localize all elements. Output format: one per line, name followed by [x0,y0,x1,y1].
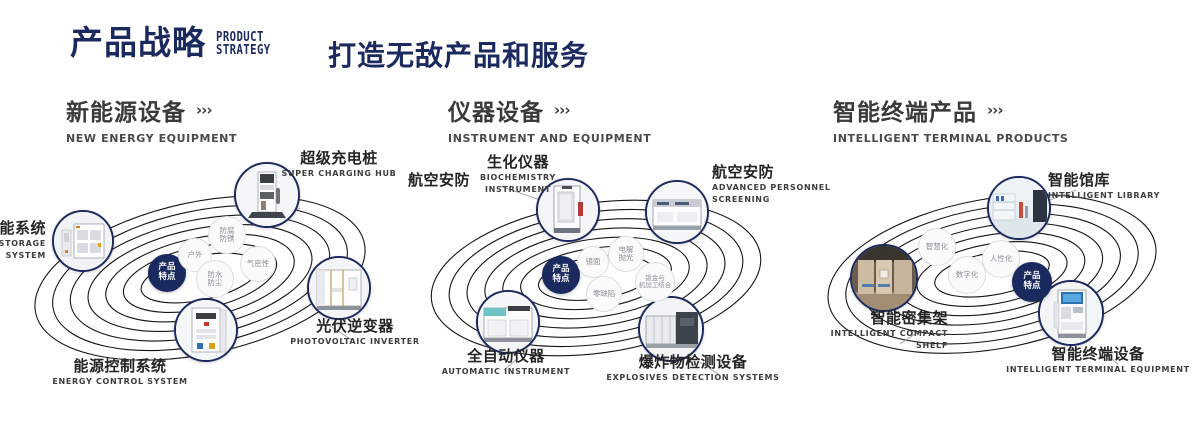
node-label-en-1: INTELLIGENT LIBRARY [1048,191,1198,201]
feature-bubble-anticorrosion[interactable]: 防腐 防锈 [208,216,246,254]
node-label-en-1: INTELLIGENT TERMINAL EQUIPMENT [998,365,1198,375]
feature-bubble-text: 气密性 [247,260,270,268]
feature-bubble-digital[interactable]: 数字化 [948,256,986,294]
feature-bubble-text: 户外 [188,251,203,259]
feature-bubble-text: 镜面 [586,258,601,266]
label-intelligent-library: 智能馆库 INTELLIGENT LIBRARY [1048,172,1198,201]
label-energy-storage-system: 储能系统 ENERGY STORAGE SYSTEM [0,220,46,261]
page-title-en-line2: STRATEGY [216,44,271,57]
feature-bubble-text: 数字化 [956,271,979,279]
node-label-cn: 智能密集架 [758,310,948,327]
section-title-new-energy: 新能源设备 ››› NEW ENERGY EQUIPMENT [66,93,237,145]
center-bubble-line2: 特点 [158,273,175,283]
node-label-en-2: SYSTEM [0,251,46,261]
section-title-cn-wrap: 新能源设备 ››› [66,93,237,127]
section-title-instrument: 仪器设备 ››› INSTRUMENT AND EQUIPMENT [448,93,651,145]
feature-bubble-waterproof[interactable]: 防水 防尘 [196,260,234,298]
node-label-en-1: INTELLIGENT COMPACT [758,329,948,339]
node-energy-control-system[interactable] [174,298,238,362]
feature-bubble-line2: 抛光 [619,254,634,262]
compact-shelf-icon [852,246,916,310]
node-label-cn: 储能系统 [0,220,46,237]
feature-bubble-line2: 防锈 [220,235,235,243]
center-bubble-product-features[interactable]: 产品 特点 [542,256,580,294]
feature-bubble-electropolishing[interactable]: 电解 抛光 [608,236,644,272]
node-photovoltaic-inverter[interactable] [307,256,371,320]
feature-bubble-mirror[interactable]: 镜面 [577,246,609,278]
label-intelligent-compact-shelf: 智能密集架 INTELLIGENT COMPACT SHELF [758,310,948,351]
feature-bubble-text: 人性化 [990,255,1013,263]
page-title-english: PRODUCT STRATEGY [216,31,271,57]
label-energy-control-system: 能源控制系统 ENERGY CONTROL SYSTEM [30,358,210,387]
section-title-en: NEW ENERGY EQUIPMENT [66,132,237,145]
label-super-charging-hub: 超级充电桩 SUPER CHARGING HUB [264,150,414,179]
label-explosives-detection-systems: 爆炸物检测设备 EXPLOSIVES DETECTION SYSTEMS [598,354,788,383]
node-label-en-2: SHELF [758,341,948,351]
section-title-cn-wrap: 仪器设备 ››› [448,93,651,127]
control-cabinet-icon [176,300,236,360]
explosives-detector-icon [640,298,702,360]
label-intelligent-terminal-equipment: 智能终端设备 INTELLIGENT TERMINAL EQUIPMENT [998,346,1198,375]
section-title-cn: 新能源设备 [66,93,186,127]
section-title-cn: 智能终端产品 [833,93,977,127]
automatic-instrument-icon [478,292,538,352]
inverter-cabinet-icon [309,258,369,318]
feature-bubble-zero-defect[interactable]: 零缺陷 [586,276,622,312]
node-label-cn: 智能终端设备 [998,346,1198,363]
diagram-instrument: 生化仪器 BIOCHEMISTRY INSTRUMENT 航空安防 航空安防 A… [400,150,800,410]
diagram-intelligent-terminal: 智能馆库 INTELLIGENT LIBRARY 智能密集架 INTELLIGE… [800,150,1200,410]
library-room-icon [989,178,1049,238]
center-bubble-product-features[interactable]: 产品 特点 [1012,262,1052,302]
battery-cabinet-icon [54,212,112,270]
diagram-new-energy: 储能系统 ENERGY STORAGE SYSTEM 超级充电桩 SUPER C… [0,150,400,410]
section-title-cn: 仪器设备 [448,93,544,127]
node-advanced-personnel-screening[interactable] [645,180,709,244]
node-energy-storage-system[interactable] [52,210,114,272]
page-header: 产品战略 PRODUCT STRATEGY [70,26,283,59]
screening-machine-icon [647,182,707,242]
node-automatic-instrument[interactable] [476,290,540,354]
product-strategy-poster: 产品战略 PRODUCT STRATEGY 打造无敌产品和服务 新能源设备 ››… [0,0,1200,422]
chevrons-right-icon: ››› [196,103,212,118]
feature-bubble-sheetmetal-machining[interactable]: 钣金与 机加工结合 [635,262,675,302]
node-intelligent-compact-shelf[interactable] [850,244,918,312]
center-bubble-line2: 特点 [552,275,569,285]
node-label-cn: 爆炸物检测设备 [598,354,788,371]
node-label-cn: 超级充电桩 [264,150,414,167]
center-bubble-line2: 特点 [1023,282,1040,292]
node-label-cn: 智能馆库 [1048,172,1198,189]
node-label-cn: 航空安防 [408,172,518,189]
page-title: 产品战略 [70,26,206,59]
section-title-cn-wrap: 智能终端产品 ››› [833,93,1068,127]
feature-bubble-intelligent[interactable]: 智慧化 [918,228,956,266]
node-label-en-1: AUTOMATIC INSTRUMENT [428,367,584,377]
node-label-cn: 能源控制系统 [30,358,210,375]
feature-bubble-line2: 机加工结合 [639,282,672,289]
section-title-intelligent-terminal: 智能终端产品 ››› INTELLIGENT TERMINAL PRODUCTS [833,93,1068,145]
label-aviation-security-left: 航空安防 [408,172,518,189]
label-automatic-instrument: 全自动仪器 AUTOMATIC INSTRUMENT [428,348,584,377]
node-label-en-1: EXPLOSIVES DETECTION SYSTEMS [598,373,788,383]
feature-bubble-text: 智慧化 [926,243,949,251]
node-label-en-1: SUPER CHARGING HUB [264,169,414,179]
node-intelligent-library[interactable] [987,176,1051,240]
section-title-en: INSTRUMENT AND EQUIPMENT [448,132,651,145]
node-label-en-1: ENERGY CONTROL SYSTEM [30,377,210,387]
node-label-en-1: ENERGY STORAGE [0,239,46,249]
chevrons-right-icon: ››› [554,103,570,118]
node-label-cn: 生化仪器 [438,154,598,171]
section-title-en: INTELLIGENT TERMINAL PRODUCTS [833,132,1068,145]
feature-bubble-airtight[interactable]: 气密性 [240,246,276,282]
chevrons-right-icon: ››› [987,103,1003,118]
page-subtitle: 打造无敌产品和服务 [328,34,589,74]
feature-bubble-text: 零缺陷 [593,290,616,298]
node-label-cn: 全自动仪器 [428,348,584,365]
feature-bubble-line2: 防尘 [208,279,223,287]
